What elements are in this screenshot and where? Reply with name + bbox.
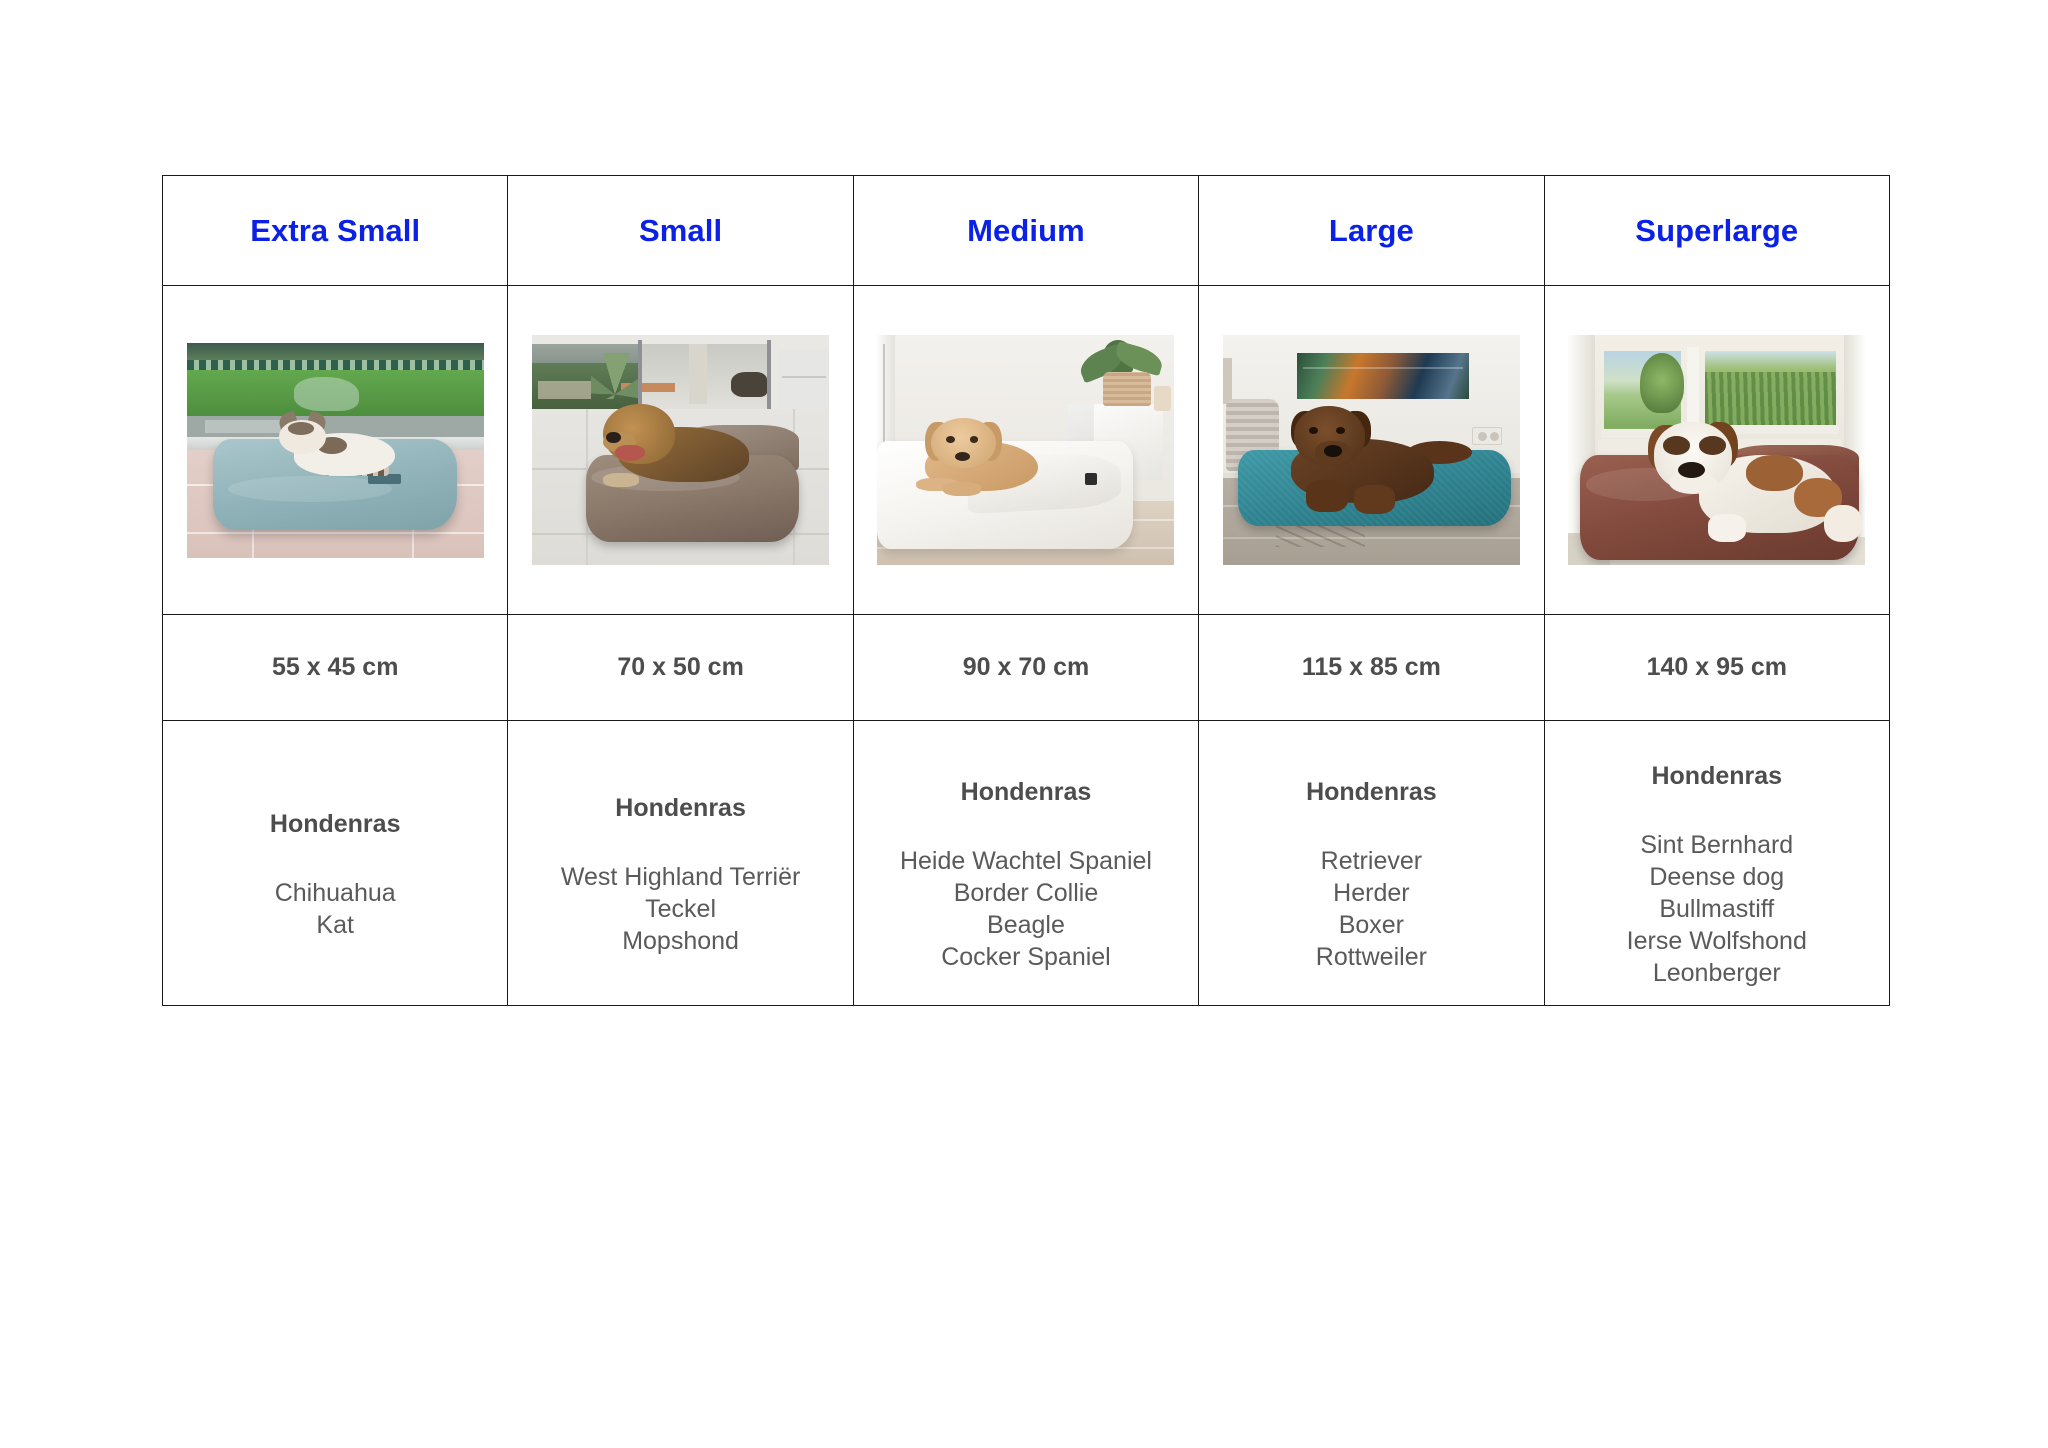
header-cell-medium: Medium xyxy=(853,176,1198,286)
breed-list-medium: Heide Wachtel SpanielBorder CollieBeagle… xyxy=(854,845,1198,973)
table-size-row: 55 x 45 cm 70 x 50 cm 90 x 70 cm 115 x 8… xyxy=(163,615,1890,721)
header-cell-superlarge: Superlarge xyxy=(1544,176,1889,286)
breed-list-item: Bullmastiff xyxy=(1545,893,1889,925)
breed-list-item: Ierse Wolfshond xyxy=(1545,925,1889,957)
size-cell-superlarge: 140 x 95 cm xyxy=(1544,615,1889,721)
breed-list-item: Leonberger xyxy=(1545,957,1889,989)
size-label-superlarge: 140 x 95 cm xyxy=(1545,653,1889,682)
header-cell-small: Small xyxy=(508,176,853,286)
photo-cockapoo-on-white-bed xyxy=(877,335,1174,565)
breed-list-superlarge: Sint BernhardDeense dogBullmastiffIerse … xyxy=(1545,829,1889,989)
photo-saint-bernard-on-brown-leather-bed xyxy=(1568,335,1865,565)
header-label-extra-small: Extra Small xyxy=(163,215,507,246)
breed-list-large: RetrieverHerderBoxerRottweiler xyxy=(1199,845,1543,973)
breed-title-large: Hondenras xyxy=(1199,780,1543,805)
breed-cell-small: Hondenras West Highland TerriërTeckelMop… xyxy=(508,721,853,1006)
breed-cell-large: Hondenras RetrieverHerderBoxerRottweiler xyxy=(1199,721,1544,1006)
breed-list-item: Deense dog xyxy=(1545,861,1889,893)
photo-cell-large xyxy=(1199,286,1544,615)
photo-wrap-medium xyxy=(854,286,1198,614)
header-label-large: Large xyxy=(1199,215,1543,246)
breed-list-item: Herder xyxy=(1199,877,1543,909)
breed-list-item: West Highland Terriër xyxy=(508,861,852,893)
breed-block-extra-small: Hondenras ChihuahuaKat xyxy=(163,785,507,941)
breed-list-item: Chihuahua xyxy=(163,877,507,909)
photo-cell-small xyxy=(508,286,853,615)
photo-wrap-large xyxy=(1199,286,1543,614)
dog-bed-size-chart-table: Extra Small Small Medium Large Superlarg… xyxy=(162,175,1890,1006)
breed-block-small: Hondenras West Highland TerriërTeckelMop… xyxy=(508,769,852,957)
breed-list-item: Heide Wachtel Spaniel xyxy=(854,845,1198,877)
breed-block-superlarge: Hondenras Sint BernhardDeense dogBullmas… xyxy=(1545,737,1889,989)
size-label-medium: 90 x 70 cm xyxy=(854,653,1198,682)
table-header-row: Extra Small Small Medium Large Superlarg… xyxy=(163,176,1890,286)
breed-title-medium: Hondenras xyxy=(854,780,1198,805)
breed-list-item: Border Collie xyxy=(854,877,1198,909)
photo-cat-on-light-blue-bed xyxy=(187,343,484,558)
breed-list-item: Beagle xyxy=(854,909,1198,941)
breed-list-item: Rottweiler xyxy=(1199,941,1543,973)
header-cell-large: Large xyxy=(1199,176,1544,286)
breed-list-item: Retriever xyxy=(1199,845,1543,877)
table-photo-row xyxy=(163,286,1890,615)
photo-wrap-extra-small xyxy=(163,286,507,614)
breed-block-medium: Hondenras Heide Wachtel SpanielBorder Co… xyxy=(854,753,1198,973)
breed-list-item: Cocker Spaniel xyxy=(854,941,1198,973)
size-label-small: 70 x 50 cm xyxy=(508,653,852,682)
breed-title-extra-small: Hondenras xyxy=(163,812,507,837)
breed-cell-superlarge: Hondenras Sint BernhardDeense dogBullmas… xyxy=(1544,721,1889,1006)
table-breed-row: Hondenras ChihuahuaKat Hondenras West Hi… xyxy=(163,721,1890,1006)
size-cell-large: 115 x 85 cm xyxy=(1199,615,1544,721)
breed-block-large: Hondenras RetrieverHerderBoxerRottweiler xyxy=(1199,753,1543,973)
size-cell-extra-small: 55 x 45 cm xyxy=(163,615,508,721)
photo-terrier-on-taupe-leather-bed xyxy=(532,335,829,565)
breed-list-extra-small: ChihuahuaKat xyxy=(163,877,507,941)
size-cell-medium: 90 x 70 cm xyxy=(853,615,1198,721)
photo-wrap-superlarge xyxy=(1545,286,1889,614)
photo-cell-extra-small xyxy=(163,286,508,615)
breed-list-small: West Highland TerriërTeckelMopshond xyxy=(508,861,852,957)
breed-cell-medium: Hondenras Heide Wachtel SpanielBorder Co… xyxy=(853,721,1198,1006)
breed-title-small: Hondenras xyxy=(508,796,852,821)
size-label-extra-small: 55 x 45 cm xyxy=(163,653,507,682)
photo-chocolate-labrador-on-teal-bed xyxy=(1223,335,1520,565)
photo-cell-superlarge xyxy=(1544,286,1889,615)
breed-title-superlarge: Hondenras xyxy=(1545,764,1889,789)
size-label-large: 115 x 85 cm xyxy=(1199,653,1543,682)
header-label-small: Small xyxy=(508,215,852,246)
header-cell-extra-small: Extra Small xyxy=(163,176,508,286)
breed-list-item: Teckel xyxy=(508,893,852,925)
breed-list-item: Sint Bernhard xyxy=(1545,829,1889,861)
size-cell-small: 70 x 50 cm xyxy=(508,615,853,721)
photo-wrap-small xyxy=(508,286,852,614)
breed-cell-extra-small: Hondenras ChihuahuaKat xyxy=(163,721,508,1006)
breed-list-item: Mopshond xyxy=(508,925,852,957)
header-label-medium: Medium xyxy=(854,215,1198,246)
photo-cell-medium xyxy=(853,286,1198,615)
breed-list-item: Boxer xyxy=(1199,909,1543,941)
page-canvas: Extra Small Small Medium Large Superlarg… xyxy=(0,0,2048,1448)
header-label-superlarge: Superlarge xyxy=(1545,215,1889,246)
breed-list-item: Kat xyxy=(163,909,507,941)
